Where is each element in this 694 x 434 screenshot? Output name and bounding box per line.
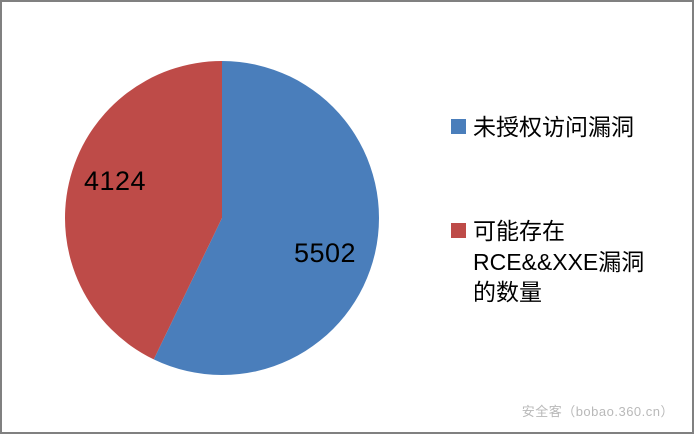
pie-chart (64, 60, 380, 376)
chart-canvas: 5502 4124 未授权访问漏洞 可能存在 RCE&&XXE漏洞 的数量 安全… (0, 0, 694, 434)
pie-svg (64, 60, 380, 376)
legend-swatch-red-icon (451, 223, 466, 238)
chart-legend: 未授权访问漏洞 可能存在 RCE&&XXE漏洞 的数量 (451, 112, 683, 307)
watermark-text: 安全客（bobao.360.cn） (522, 401, 674, 420)
legend-item-unauthorized-access[interactable]: 未授权访问漏洞 (451, 112, 683, 142)
pie-slice-label-rce-xxe: 4124 (84, 168, 146, 195)
pie-slice-label-unauthorized-access: 5502 (294, 240, 356, 267)
legend-item-rce-xxe[interactable]: 可能存在 RCE&&XXE漏洞 的数量 (451, 216, 683, 307)
legend-label-rce-xxe: 可能存在 RCE&&XXE漏洞 的数量 (473, 216, 644, 307)
legend-swatch-blue-icon (451, 119, 466, 134)
legend-label-unauthorized-access: 未授权访问漏洞 (473, 112, 634, 142)
